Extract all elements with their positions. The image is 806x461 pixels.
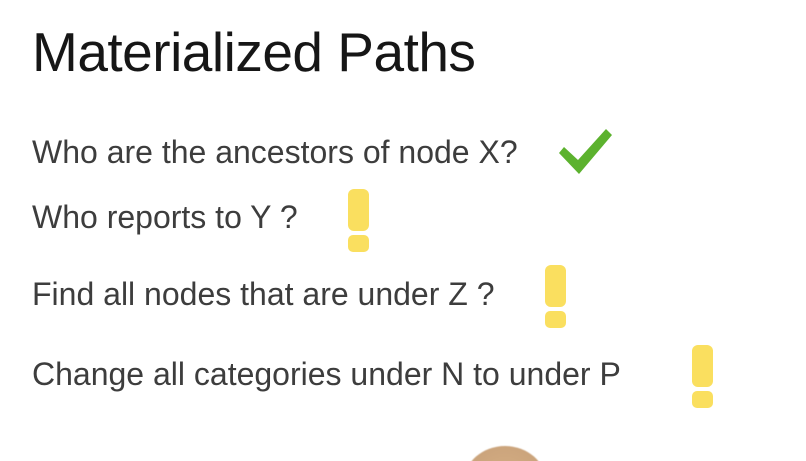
check-icon (555, 126, 615, 178)
bullet-item: Change all categories under N to under P (32, 354, 621, 394)
bullet-label: Who reports to Y ? (32, 197, 298, 237)
exclamation-bar (348, 189, 369, 231)
exclamation-dot (692, 391, 713, 408)
bullet-label: Who are the ancestors of node X? (32, 132, 518, 172)
bullet-label: Find all nodes that are under Z ? (32, 274, 495, 314)
exclamation-icon (545, 265, 566, 327)
bullet-label: Change all categories under N to under P (32, 354, 621, 394)
bullet-item: Find all nodes that are under Z ? (32, 274, 495, 314)
exclamation-icon (348, 189, 369, 251)
slide-canvas: Materialized Paths Who are the ancestors… (0, 0, 806, 461)
exclamation-icon (692, 345, 713, 407)
page-title: Materialized Paths (32, 22, 475, 82)
bullet-item: Who are the ancestors of node X? (32, 132, 518, 172)
exclamation-dot (545, 311, 566, 328)
presenter-head-overlay (464, 446, 546, 461)
exclamation-dot (348, 235, 369, 252)
exclamation-bar (545, 265, 566, 307)
exclamation-bar (692, 345, 713, 387)
bullet-item: Who reports to Y ? (32, 197, 298, 237)
